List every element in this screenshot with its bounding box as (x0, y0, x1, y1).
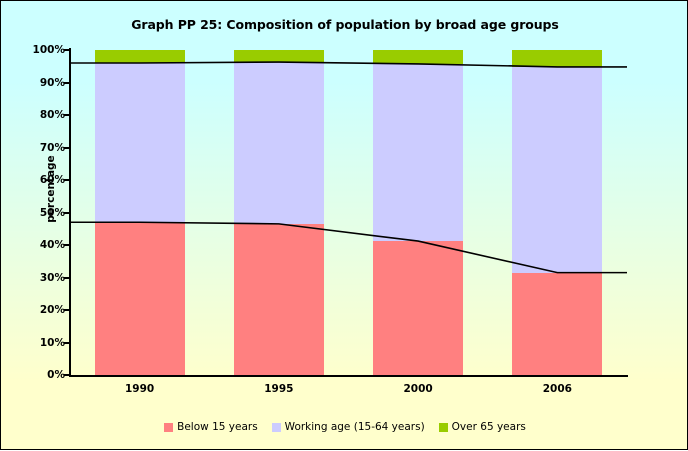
y-tick-mark (64, 114, 70, 116)
y-tick-label: 60% (5, 174, 65, 186)
bar-segment[interactable] (512, 273, 602, 375)
x-axis-line (69, 375, 628, 377)
y-tick-label: 50% (5, 207, 65, 219)
bar-group[interactable] (373, 50, 463, 375)
y-tick-label: 90% (5, 77, 65, 89)
legend-swatch (164, 423, 173, 432)
y-tick-label: 20% (5, 304, 65, 316)
legend-swatch (272, 423, 281, 432)
y-tick-label: 0% (5, 369, 65, 381)
y-tick-mark (64, 342, 70, 344)
y-tick-label: 100% (5, 44, 65, 56)
y-tick-label: 30% (5, 272, 65, 284)
y-tick-label: 70% (5, 142, 65, 154)
y-tick-label: 10% (5, 337, 65, 349)
bar-segment[interactable] (512, 50, 602, 67)
chart-title: Graph PP 25: Composition of population b… (1, 17, 688, 32)
bar-segment[interactable] (95, 222, 185, 375)
y-tick-mark (64, 212, 70, 214)
x-tick-label: 2000 (373, 383, 463, 395)
bar-segment[interactable] (234, 62, 324, 224)
y-tick-mark (64, 82, 70, 84)
bar-group[interactable] (234, 50, 324, 375)
x-axis-tick-labels: 1990199520002006 (70, 383, 627, 403)
y-tick-mark (64, 49, 70, 51)
legend-label: Below 15 years (177, 421, 258, 433)
chart-legend: Below 15 yearsWorking age (15-64 years)O… (1, 421, 688, 433)
bar-segment[interactable] (234, 224, 324, 375)
bar-group[interactable] (512, 50, 602, 375)
bar-segment[interactable] (373, 50, 463, 64)
y-tick-label: 80% (5, 109, 65, 121)
legend-item[interactable]: Working age (15-64 years) (272, 421, 425, 433)
chart-container: Graph PP 25: Composition of population b… (0, 0, 688, 450)
x-tick-label: 1990 (95, 383, 185, 395)
x-tick-label: 1995 (234, 383, 324, 395)
x-tick-label: 2006 (512, 383, 602, 395)
bar-segment[interactable] (234, 50, 324, 62)
legend-item[interactable]: Below 15 years (164, 421, 258, 433)
y-axis-tick-labels: 0%10%20%30%40%50%60%70%80%90%100% (1, 1, 65, 451)
bar-segment[interactable] (95, 50, 185, 63)
y-tick-mark (64, 179, 70, 181)
legend-item[interactable]: Over 65 years (439, 421, 526, 433)
plot-area (70, 50, 627, 375)
y-tick-mark (64, 147, 70, 149)
bar-group[interactable] (95, 50, 185, 375)
y-tick-label: 40% (5, 239, 65, 251)
bar-segment[interactable] (512, 67, 602, 273)
bar-segment[interactable] (373, 241, 463, 375)
legend-label: Working age (15-64 years) (285, 421, 425, 433)
legend-swatch (439, 423, 448, 432)
bar-segment[interactable] (95, 63, 185, 222)
y-tick-mark (64, 277, 70, 279)
legend-label: Over 65 years (452, 421, 526, 433)
y-tick-mark (64, 244, 70, 246)
y-tick-mark (64, 374, 70, 376)
bar-segment[interactable] (373, 64, 463, 241)
y-tick-mark (64, 309, 70, 311)
